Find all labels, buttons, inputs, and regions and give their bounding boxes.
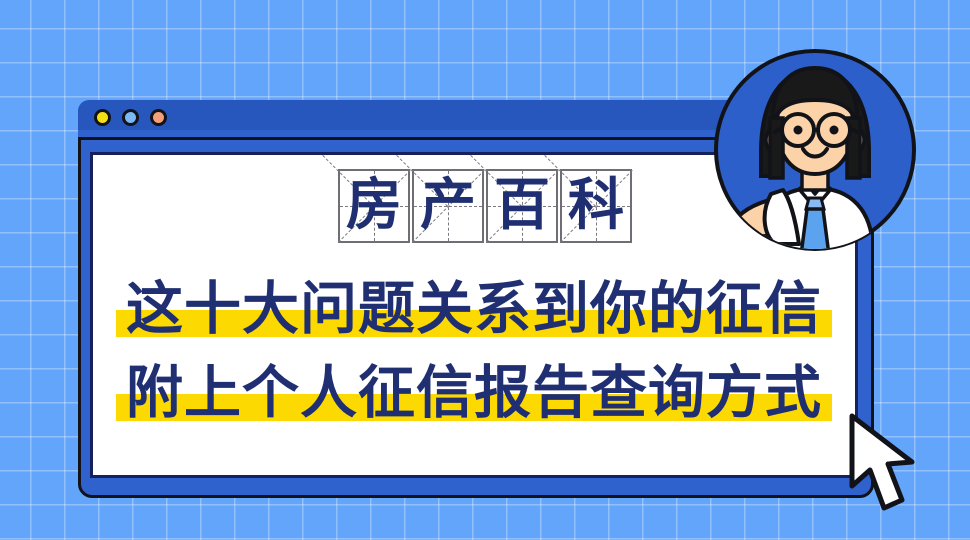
category-char: 科 bbox=[568, 178, 624, 234]
headline-line-1: 这十大问题关系到你的征信 bbox=[93, 263, 855, 345]
window-control-dots bbox=[94, 109, 167, 126]
avatar-tie bbox=[801, 209, 829, 252]
grid-cell-2: 产 bbox=[412, 169, 484, 243]
window-dot-orange[interactable] bbox=[150, 109, 167, 126]
category-char: 房 bbox=[346, 178, 402, 234]
headline-line-2: 附上个人征信报告查询方式 bbox=[93, 347, 855, 429]
category-char: 产 bbox=[420, 178, 476, 234]
window-dot-yellow[interactable] bbox=[94, 109, 111, 126]
window-dot-blue[interactable] bbox=[122, 109, 139, 126]
avatar-eye-left bbox=[794, 126, 803, 135]
headline-line-2-text: 附上个人征信报告查询方式 bbox=[126, 360, 822, 426]
headline-line-1-text: 这十大问题关系到你的征信 bbox=[126, 276, 822, 342]
avatar-eye-right bbox=[830, 126, 839, 135]
category-title-grid: 房 产 百 科 bbox=[338, 169, 632, 243]
avatar bbox=[713, 48, 917, 252]
grid-cell-3: 百 bbox=[486, 169, 558, 243]
mouse-pointer-icon bbox=[848, 412, 920, 516]
category-char: 百 bbox=[494, 178, 550, 234]
grid-cell-4: 科 bbox=[560, 169, 632, 243]
grid-cell-1: 房 bbox=[338, 169, 410, 243]
